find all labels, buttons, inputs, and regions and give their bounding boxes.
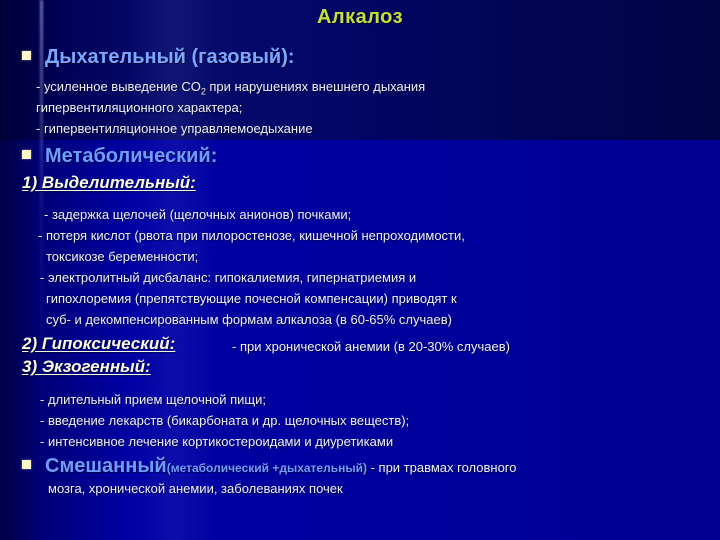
- bullet-item-metabolic: Метаболический:: [22, 145, 217, 168]
- presentation-slide: Алкалоз Дыхательный (газовый): - усиленн…: [0, 0, 720, 540]
- square-bullet-icon: [22, 51, 31, 60]
- sub-line-mixed-2: мозга, хронической анемии, заболеваниях …: [48, 481, 343, 496]
- bullet-item-mixed: Смешанный(метаболический +дыхательный) -…: [22, 455, 517, 478]
- sub-line-exogenous-2: - введение лекарств (бикарбоната и др. щ…: [40, 413, 409, 428]
- sub-line-excretory-4: - электролитный дисбаланс: гипокалиемия,…: [40, 270, 416, 285]
- square-bullet-icon: [22, 460, 31, 469]
- sub-line-excretory-6: суб- и декомпенсированным формам алкалоз…: [46, 312, 452, 327]
- slide-title: Алкалоз: [0, 6, 720, 29]
- sub-line-excretory-2: - потеря кислот (рвота при пилоростенозе…: [38, 228, 465, 243]
- sub-line-text-prefix: - усиленное выведение CO: [36, 79, 201, 94]
- sub-line-exogenous-1: - длительный прием щелочной пищи;: [40, 392, 266, 407]
- bullet-item-respiratory: Дыхательный (газовый):: [22, 46, 295, 69]
- sub-line-excretory-1: - задержка щелочей (щелочных анионов) по…: [44, 207, 351, 222]
- inline-note-hypoxic: - при хронической анемии (в 20-30% случа…: [232, 339, 510, 354]
- sub-line-excretory-3: токсикозе беременности;: [46, 249, 198, 264]
- numbered-heading-excretory: 1) Выделительный:: [22, 173, 196, 193]
- sub-line-text-suffix: при нарушениях внешнего дыхания: [206, 79, 425, 94]
- square-bullet-icon: [22, 150, 31, 159]
- numbered-heading-exogenous: 3) Экзогенный:: [22, 357, 151, 377]
- bullet-heading-mixed-tail: - при травмах головного: [367, 460, 517, 475]
- bullet-heading-respiratory: Дыхательный (газовый):: [45, 46, 295, 69]
- numbered-heading-hypoxic: 2) Гипоксический:: [22, 334, 175, 354]
- sub-line-respiratory-1: - усиленное выведение CO2 при нарушениях…: [36, 79, 425, 97]
- sub-line-excretory-5: гипохлоремия (препятствующие почесной ко…: [46, 291, 457, 306]
- bullet-heading-mixed: Смешанный: [45, 455, 167, 477]
- sub-line-respiratory-2: гипервентиляционного характера;: [36, 100, 242, 115]
- sub-line-respiratory-3: - гипервентиляционное управляемоедыхание: [36, 121, 313, 136]
- bullet-heading-mixed-paren: (метаболический +дыхательный): [167, 461, 367, 475]
- sub-line-exogenous-3: - интенсивное лечение кортикостероидами …: [40, 434, 393, 449]
- bullet-heading-metabolic: Метаболический:: [45, 145, 217, 168]
